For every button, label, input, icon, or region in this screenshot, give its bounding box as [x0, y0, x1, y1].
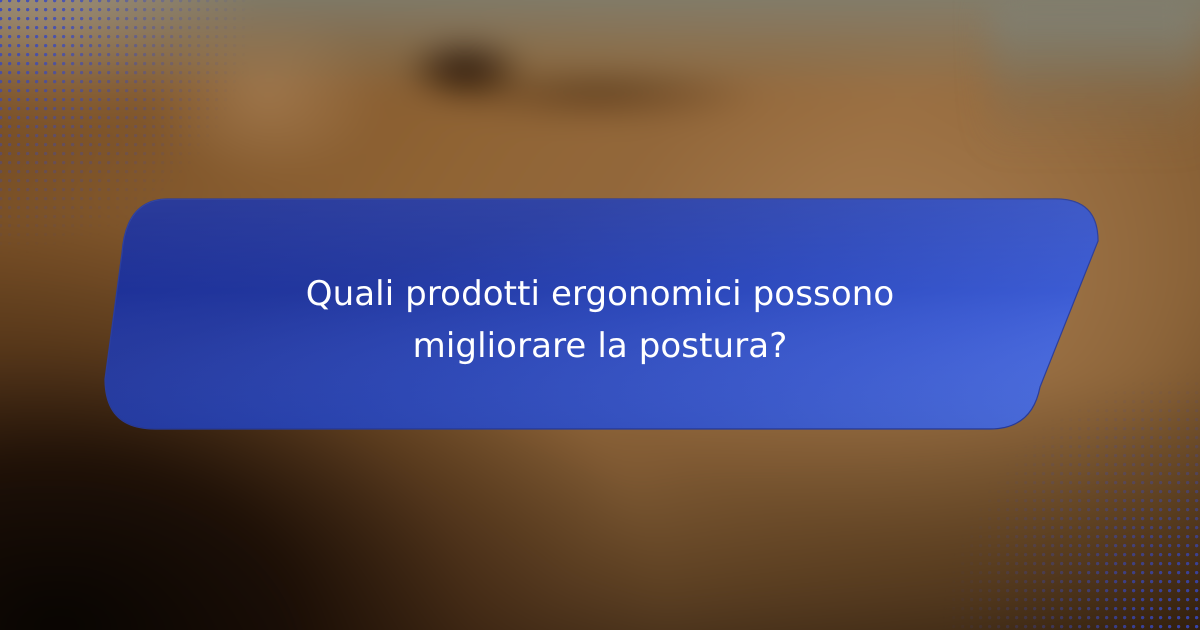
question-text: Quali prodotti ergonomici possono miglio…: [160, 268, 1040, 372]
question-card: Quali prodotti ergonomici possono miglio…: [0, 0, 1200, 630]
question-line-1: Quali prodotti ergonomici possono: [160, 268, 1040, 320]
question-line-2: migliorare la postura?: [160, 320, 1040, 372]
social-card-canvas: Quali prodotti ergonomici possono miglio…: [0, 0, 1200, 630]
